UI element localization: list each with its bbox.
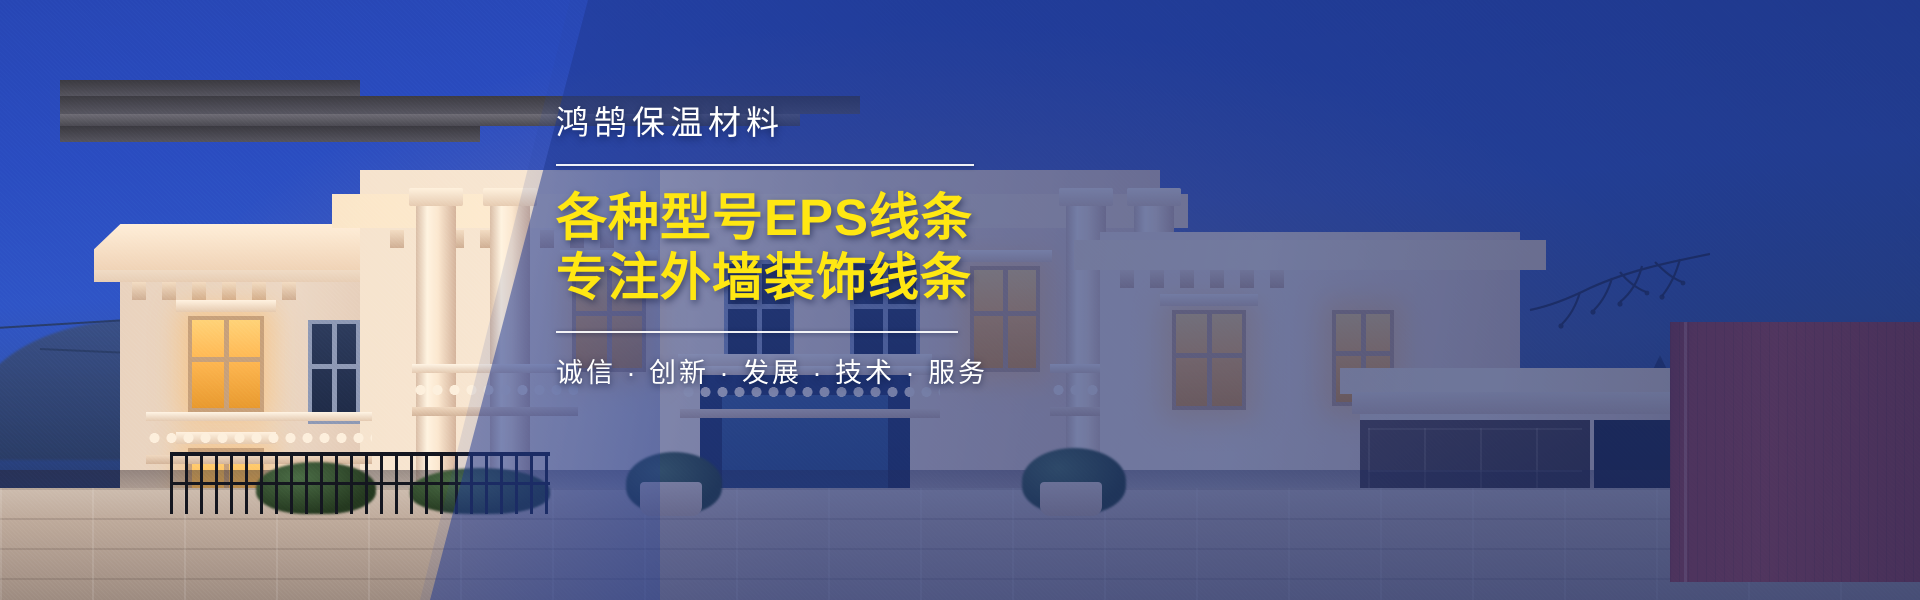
divider-bottom (556, 331, 958, 333)
dentil-row (132, 282, 296, 300)
banner-text-block: 鸿鹄保温材料 各种型号EPS线条 专注外墙装饰线条 诚信 · 创新 · 发展 ·… (556, 96, 1026, 390)
right-wing-roof (60, 126, 480, 142)
window-dark (308, 320, 360, 424)
window-glowing (188, 316, 264, 412)
window-hood (176, 300, 276, 312)
headline-line-1: 各种型号EPS线条 (556, 188, 1026, 248)
divider-top (556, 164, 974, 166)
headline-line-2: 专注外墙装饰线条 (556, 248, 1026, 308)
headline: 各种型号EPS线条 专注外墙装饰线条 (556, 188, 1026, 307)
left-wing-roof (60, 80, 360, 96)
brand-name: 鸿鹄保温材料 (556, 96, 1026, 144)
tagline: 诚信 · 创新 · 发展 · 技术 · 服务 (556, 351, 1026, 390)
promo-banner: 鸿鹄保温材料 各种型号EPS线条 专注外墙装饰线条 诚信 · 创新 · 发展 ·… (0, 0, 1920, 600)
